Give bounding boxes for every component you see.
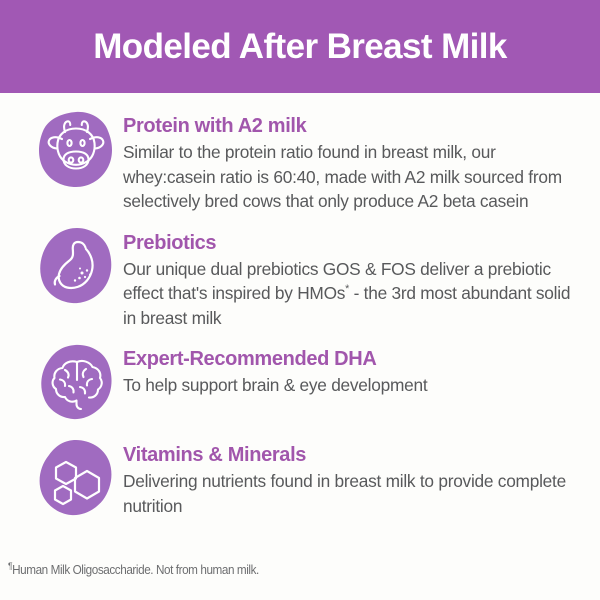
feature-item-dha: Expert-Recommended DHA To help support b… — [34, 342, 582, 424]
feature-item-protein: Protein with A2 milk Similar to the prot… — [34, 109, 582, 214]
feature-text-prebiotics: Prebiotics Our unique dual prebiotics GO… — [123, 226, 582, 331]
hexagons-icon — [34, 436, 118, 520]
feature-item-prebiotics: Prebiotics Our unique dual prebiotics GO… — [34, 226, 582, 331]
feature-title: Expert-Recommended DHA — [123, 348, 582, 371]
feature-text-vitamins: Vitamins & Minerals Delivering nutrients… — [123, 438, 582, 518]
feature-title: Prebiotics — [123, 232, 582, 255]
feature-body: Similar to the protein ratio found in br… — [123, 140, 582, 214]
footnote: ¶Human Milk Oligosaccharide. Not from hu… — [8, 563, 259, 578]
infographic-page: Modeled After Breast Milk — [0, 0, 600, 600]
feature-body-part: Delivering nutrients found in breast mil… — [123, 471, 566, 516]
feature-title: Protein with A2 milk — [123, 115, 582, 138]
feature-body: Our unique dual prebiotics GOS & FOS del… — [123, 257, 582, 331]
feature-text-dha: Expert-Recommended DHA To help support b… — [123, 342, 582, 398]
feature-list: Protein with A2 milk Similar to the prot… — [0, 93, 600, 520]
feature-item-vitamins: Vitamins & Minerals Delivering nutrients… — [34, 438, 582, 520]
feature-body: Delivering nutrients found in breast mil… — [123, 469, 582, 518]
cow-icon — [34, 107, 118, 191]
feature-body: To help support brain & eye development — [123, 373, 582, 398]
brain-icon — [34, 340, 118, 424]
header-band: Modeled After Breast Milk — [0, 0, 600, 93]
footnote-text: Human Milk Oligosaccharide. Not from hum… — [12, 563, 259, 577]
page-title: Modeled After Breast Milk — [93, 29, 507, 64]
feature-body-part: Similar to the protein ratio found in br… — [123, 142, 562, 211]
feature-text-protein: Protein with A2 milk Similar to the prot… — [123, 109, 582, 214]
stomach-icon — [34, 224, 118, 308]
feature-body-part: To help support brain & eye development — [123, 375, 427, 395]
feature-title: Vitamins & Minerals — [123, 444, 582, 467]
